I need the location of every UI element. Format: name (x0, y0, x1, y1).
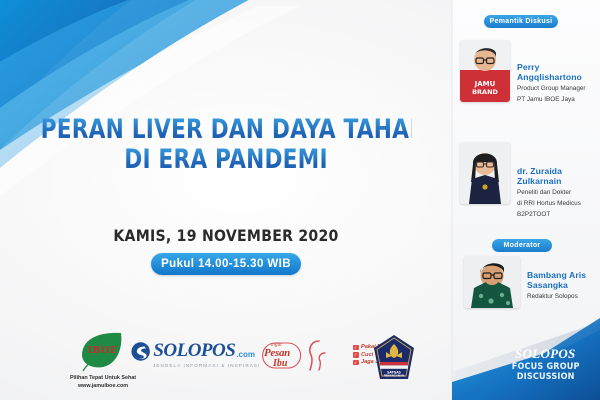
speaker-1-photo: JAMU BRAND (460, 40, 510, 102)
speakers-badge: Pemantik Diskusi (484, 15, 558, 28)
speaker-2-info: dr. Zuraida Zulkarnain Peneliti dan Dokt… (517, 142, 581, 220)
moderator-badge: Moderator (492, 239, 552, 252)
solopos-wordmark: SOLOPOS (153, 340, 235, 362)
title-line-1: PERAN LIVER DAN DAYA TAHAN TUBUH (41, 116, 412, 144)
solopos-domain: .com (236, 350, 255, 359)
speaker-1-info: Perry Angqlishartono Product Group Manag… (517, 40, 586, 105)
page-title: PERAN LIVER DAN DAYA TAHAN TUBUH DI ERA … (0, 116, 452, 174)
fgd-wordmark: SOLOPOS FOCUS GROUP DISCUSSION (508, 347, 583, 382)
speaker-2-name-line-1: dr. Zuraida (517, 166, 581, 176)
solopos-tagline: JENDELA INFORMASI & INSPIRASI (153, 363, 255, 368)
speaker-2-role-line-2: di RRI Hortus Medicus (517, 200, 581, 209)
speaker-2-name-line-2: Zulkarnain (517, 176, 581, 186)
moderator-info: Bambang Aris Sasangka Redaktur Solopos (527, 256, 586, 301)
mother-child-silhouette-icon (305, 340, 331, 371)
event-date: KAMIS, 19 NOVEMBER 2020 (27, 226, 425, 245)
speaker-1-name-line-1: Perry (517, 62, 586, 72)
fgd-line-1: SOLOPOS (508, 347, 583, 362)
speaker-panel: Pemantik Diskusi JAMU BRAND Perry (452, 0, 600, 400)
speaker-card-1: JAMU BRAND Perry Angqlishartono Product … (460, 40, 586, 105)
speaker-1-role-line-1: Product Group Manager (517, 85, 586, 94)
fgd-line-3: DISCUSSION (511, 372, 579, 382)
svg-text:JAMU: JAMU (474, 80, 496, 88)
speaker-2-role-line-1: Peneliti dan Dokter (517, 189, 581, 198)
moderator-photo (464, 256, 520, 308)
satgas-line-2: PENANGANAN (384, 374, 405, 378)
moderator-name-line-2: Sasangka (527, 280, 586, 290)
solopos-swirl-icon (131, 341, 150, 362)
iboe-tagline-1: Pilihan Tepat Untuk Sehat (55, 375, 151, 382)
speaker-1-role-line-2: PT Jamu IBOE Jaya (517, 96, 586, 105)
satgas-covid-logo: SATGAS PENANGANAN (372, 334, 416, 382)
title-line-2: DI ERA PANDEMI (41, 146, 412, 174)
iboe-tagline-2: www.jamuiboe.com (55, 383, 151, 390)
poster-canvas: PERAN LIVER DAN DAYA TAHAN TUBUH DI ERA … (0, 0, 600, 400)
svg-text:IBOE: IBOE (88, 345, 118, 356)
pesan-ibu-mark: Ingat Pesan Ibu (262, 340, 302, 371)
event-time-badge: Pukul 14.00-15.30 WIB (151, 253, 301, 275)
check-icon: ✓ (353, 345, 359, 351)
logo-strip: IBOE Pilihan Tepat Untuk Sehat www.jamui… (0, 326, 460, 400)
event-time-label: Pukul 14.00-15.30 WIB (161, 258, 291, 270)
moderator-role-line-1: Redaktur Solopos (527, 293, 586, 302)
check-icon: ✓ (353, 360, 359, 366)
speaker-1-name-line-2: Angqlishartono (517, 72, 586, 82)
speaker-2-role-line-3: B2P2TOOT (517, 211, 581, 220)
speaker-card-2: dr. Zuraida Zulkarnain Peneliti dan Dokt… (460, 142, 581, 220)
svg-text:BRAND: BRAND (472, 88, 498, 96)
moderator-card: Bambang Aris Sasangka Redaktur Solopos (464, 256, 586, 308)
speaker-2-photo (460, 142, 510, 204)
moderator-name-line-1: Bambang Aris (527, 270, 586, 280)
solopos-logo: SOLOPOS .com JENDELA INFORMASI & INSPIRA… (131, 340, 255, 368)
iboe-leaf-icon: IBOE (77, 330, 129, 374)
fgd-line-2: FOCUS GROUP (511, 362, 579, 372)
check-icon: ✓ (353, 352, 359, 358)
pesan-ibu-line-2: Ibu (273, 358, 287, 369)
